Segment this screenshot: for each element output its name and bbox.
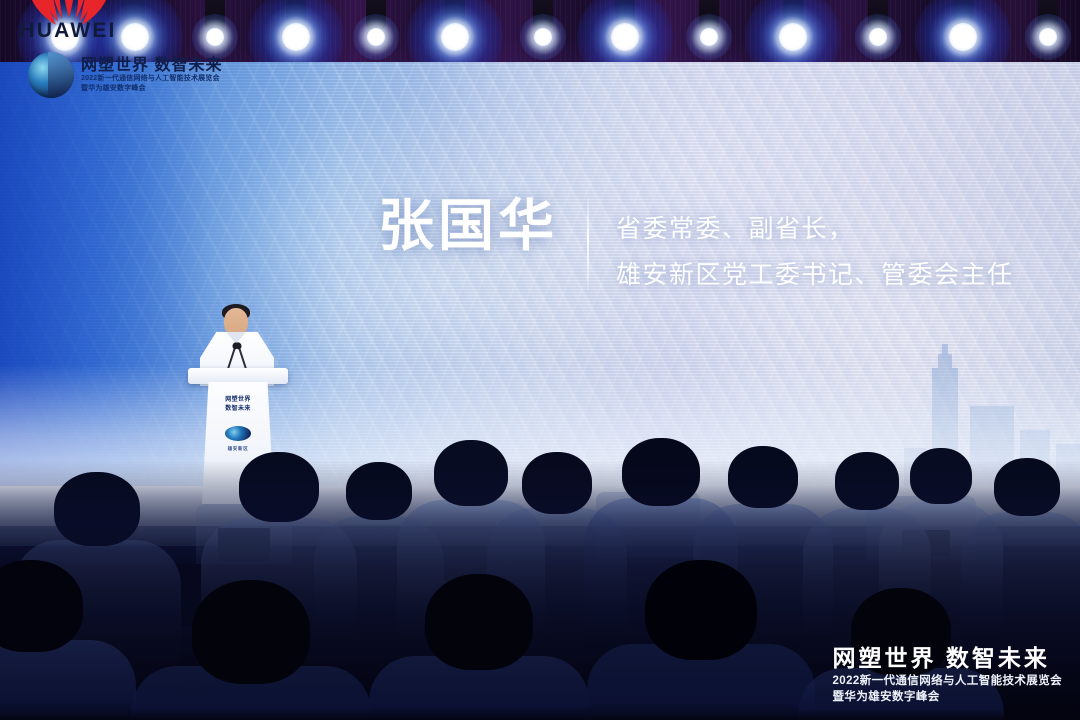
watermark-subtitle-1: 2022新一代通信网络与人工智能技术展览会 <box>833 673 1062 690</box>
watermark-title: 网塑世界 数智未来 <box>833 644 1062 673</box>
audience-member-5 <box>556 452 557 453</box>
event-logo-text: 网塑世界 数智未来 2022新一代通信网络与人工智能技术展览会 暨华为雄安数字峰… <box>81 57 222 93</box>
event-watermark: 网塑世界 数智未来 2022新一代通信网络与人工智能技术展览会 暨华为雄安数字峰… <box>833 644 1062 706</box>
audience-member-6 <box>660 438 661 439</box>
light-bulb <box>611 23 639 51</box>
audience-member-head <box>192 580 310 684</box>
name-title-divider <box>587 198 589 290</box>
watermark-subtitle-2: 暨华为雄安数字峰会 <box>833 689 1062 706</box>
event-globe-icon <box>28 52 74 98</box>
audience-member-11 <box>30 560 31 561</box>
audience-member-head <box>425 574 533 670</box>
light-bulb <box>206 28 224 46</box>
podium-top <box>188 368 288 384</box>
light-bulb <box>121 23 149 51</box>
speaker-name: 张国华 <box>378 198 558 254</box>
podium-logo-line-2: 数智未来 <box>202 405 274 414</box>
audience-member-12 <box>250 580 251 581</box>
conference-photo: HUAWEI 网塑世界 数智未来 2022新一代通信网络与人工智能技术展览会 暨… <box>0 0 1080 720</box>
podium-logo-line-1: 网塑世界 <box>202 396 274 405</box>
light-bulb <box>700 28 718 46</box>
event-logo-lockup: 网塑世界 数智未来 2022新一代通信网络与人工智能技术展览会 暨华为雄安数字峰… <box>28 52 222 98</box>
light-bulb <box>1039 28 1057 46</box>
audience-member-13 <box>478 574 479 575</box>
audience-member-2 <box>278 452 279 453</box>
audience-member-15 <box>900 588 901 589</box>
event-logo-subtitle-1: 2022新一代通信网络与人工智能技术展览会 <box>81 74 222 83</box>
speaker-title-block: 省委常委、副省长， 雄安新区党工委书记、管委会主任 <box>616 206 1014 299</box>
audience-member-14 <box>700 560 701 561</box>
light-bulb <box>441 23 469 51</box>
audience-member-9 <box>940 448 941 449</box>
light-bulb <box>534 28 552 46</box>
speaker-title-line-2: 雄安新区党工委书记、管委会主任 <box>616 252 1014 298</box>
light-bulb <box>869 28 887 46</box>
audience-member-4 <box>470 440 471 441</box>
event-logo-title: 网塑世界 数智未来 <box>81 57 222 75</box>
huawei-wordmark: HUAWEI <box>14 20 122 41</box>
audience-member-shoulders <box>0 640 136 720</box>
light-bulb <box>282 23 310 51</box>
audience-member-10 <box>1026 458 1027 459</box>
audience-member-8 <box>866 452 867 453</box>
speaker-head <box>224 308 248 336</box>
speaker-name-block: 张国华 <box>378 198 558 254</box>
podium-logo-text: 网塑世界 数智未来 <box>202 396 274 413</box>
audience-member-head <box>645 560 757 660</box>
light-bulb <box>779 23 807 51</box>
light-bulb <box>949 23 977 51</box>
speaker-title-line-1: 省委常委、副省长， <box>616 206 1014 252</box>
light-bulb <box>367 28 385 46</box>
audience-member-7 <box>762 446 763 447</box>
event-logo-subtitle-2: 暨华为雄安数字峰会 <box>81 84 222 93</box>
